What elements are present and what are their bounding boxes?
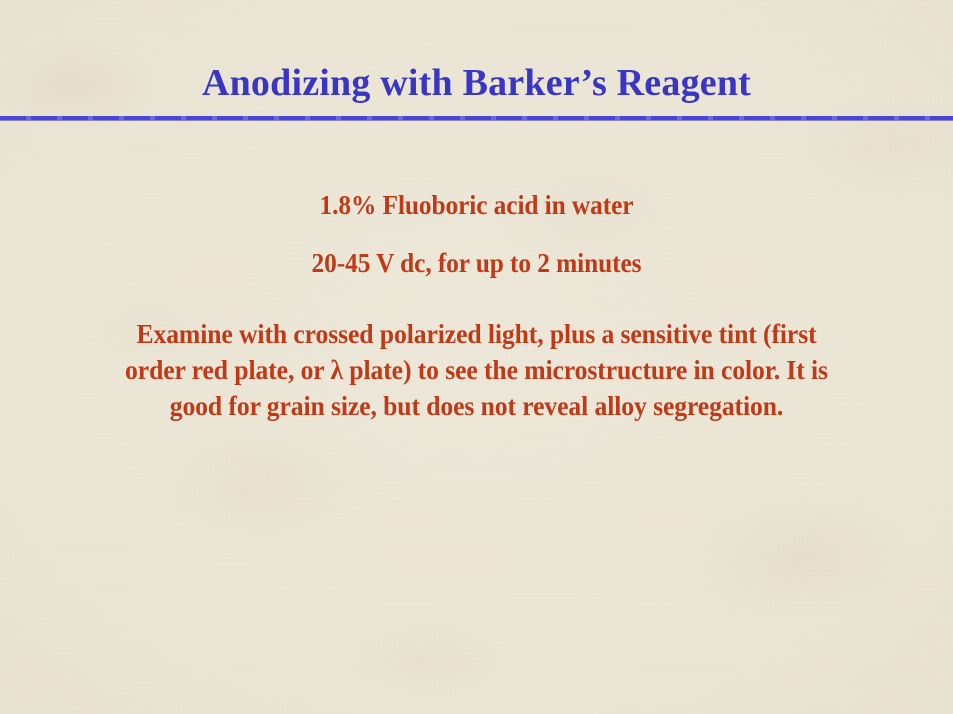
slide-title: Anodizing with Barker’s Reagent	[0, 60, 953, 106]
slide-body: 1.8% Fluoboric acid in water 20-45 V dc,…	[76, 188, 877, 424]
slide-content: Anodizing with Barker’s Reagent 1.8% Flu…	[0, 0, 953, 714]
body-line-voltage-time: 20-45 V dc, for up to 2 minutes	[100, 246, 853, 280]
body-paragraph-examination: Examine with crossed polarized light, pl…	[123, 316, 831, 424]
slide: Anodizing with Barker’s Reagent 1.8% Flu…	[0, 0, 953, 714]
body-line-reagent-concentration: 1.8% Fluoboric acid in water	[100, 188, 853, 222]
title-divider-rule	[0, 116, 953, 120]
